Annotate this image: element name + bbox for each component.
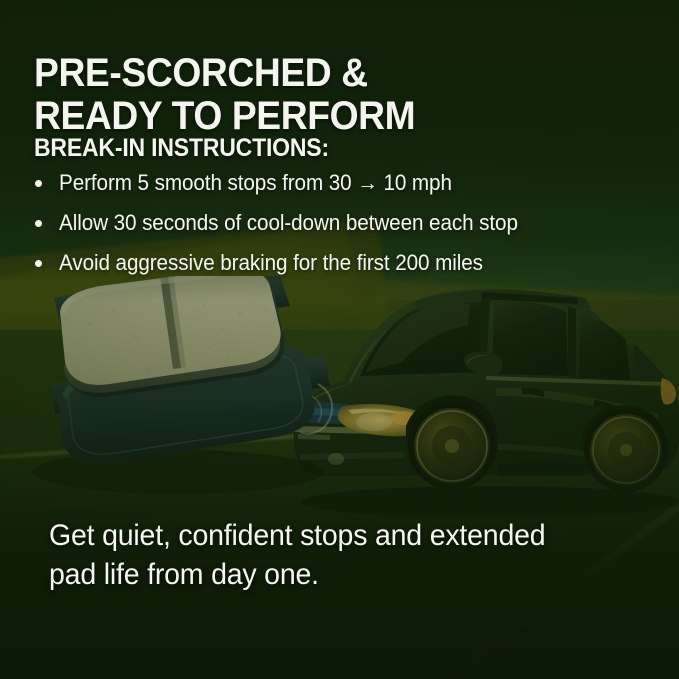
list-item-label: Avoid aggressive braking for the first 2… <box>59 252 483 274</box>
tagline-line-1: Get quiet, confident stops and extended <box>49 516 619 555</box>
list-item: Allow 30 seconds of cool-down between ea… <box>34 212 654 234</box>
list-item-label: Allow 30 seconds of cool-down between ea… <box>59 212 518 234</box>
list-item-label: Perform 5 smooth stops from 30 → 10 mph <box>59 172 452 194</box>
list-item: Avoid aggressive braking for the first 2… <box>34 252 654 274</box>
bullet-dot-icon <box>35 180 42 187</box>
tagline: Get quiet, confident stops and extended … <box>49 516 649 594</box>
poster-infographic: PRE-SCORCHED & READY TO PERFORM BREAK-IN… <box>0 0 679 679</box>
headline-line-2: READY TO PERFORM <box>34 95 611 138</box>
break-in-instructions-list: Perform 5 smooth stops from 30 → 10 mph … <box>34 172 654 292</box>
content-layer: PRE-SCORCHED & READY TO PERFORM BREAK-IN… <box>0 0 679 679</box>
bullet-dot-icon <box>35 220 42 227</box>
section-heading-break-in: BREAK-IN INSTRUCTIONS: <box>34 134 329 163</box>
page-title: PRE-SCORCHED & READY TO PERFORM <box>34 52 611 138</box>
headline-line-1: PRE-SCORCHED & <box>34 52 611 95</box>
tagline-line-2: pad life from day one. <box>49 555 619 594</box>
list-item: Perform 5 smooth stops from 30 → 10 mph <box>34 172 654 194</box>
bullet-dot-icon <box>35 260 42 267</box>
